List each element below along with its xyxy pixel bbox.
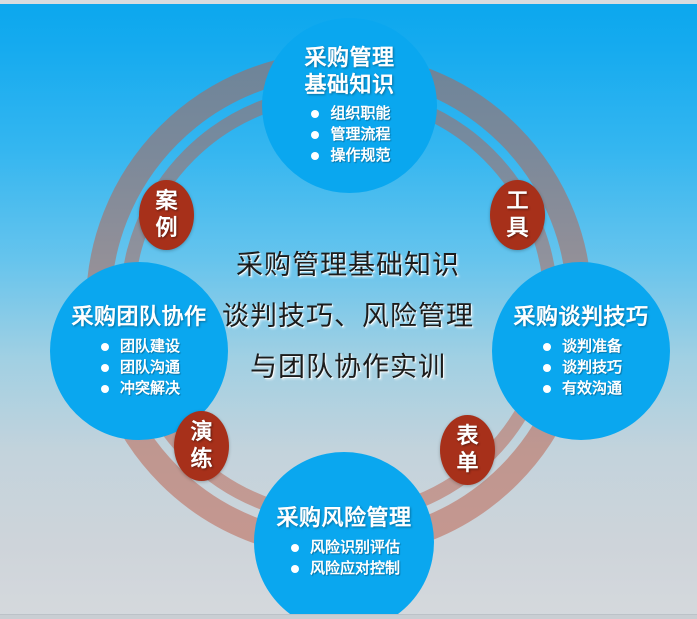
bottom-edge-strip — [0, 614, 697, 619]
list-item: 操作规范 — [308, 145, 390, 166]
list-item: 团队建设 — [98, 336, 180, 357]
list-item: 冲突解决 — [98, 378, 180, 399]
bubble-top-list: 组织职能 管理流程 操作规范 — [308, 103, 390, 166]
bubble-risk-management[interactable]: 采购风险管理 风险识别评估 风险应对控制 — [254, 452, 434, 619]
badge-tl-char-2: 例 — [155, 215, 177, 242]
top-edge-strip — [0, 0, 697, 4]
bubble-negotiation-skills[interactable]: 采购谈判技巧 谈判准备 谈判技巧 有效沟通 — [492, 262, 670, 440]
badge-tools[interactable]: 工 具 — [490, 180, 545, 250]
bubble-left-title: 采购团队协作 — [71, 304, 206, 332]
badge-form[interactable]: 表 单 — [440, 415, 495, 485]
list-item: 谈判准备 — [540, 336, 622, 357]
list-item: 团队沟通 — [98, 357, 180, 378]
bubble-right-title: 采购谈判技巧 — [513, 304, 648, 332]
list-item: 有效沟通 — [540, 378, 622, 399]
bubble-top-title-line-1: 采购管理 — [304, 45, 394, 72]
badge-drill[interactable]: 演 练 — [174, 411, 229, 481]
badge-bl-char-2: 练 — [190, 446, 212, 473]
bubble-procurement-basics[interactable]: 采购管理 基础知识 组织职能 管理流程 操作规范 — [262, 18, 437, 193]
list-item: 组织职能 — [308, 103, 390, 124]
badge-bl-char-1: 演 — [190, 419, 212, 446]
diagram-canvas: 采购管理基础知识 谈判技巧、风险管理 与团队协作实训 采购管理 基础知识 组织职… — [0, 0, 697, 619]
list-item: 谈判技巧 — [540, 357, 622, 378]
list-item: 风险识别评估 — [288, 537, 400, 558]
list-item: 管理流程 — [308, 124, 390, 145]
bubble-bottom-list: 风险识别评估 风险应对控制 — [288, 537, 400, 579]
bubble-left-list: 团队建设 团队沟通 冲突解决 — [98, 336, 180, 399]
badge-br-char-2: 单 — [456, 450, 478, 477]
bubble-bottom-title: 采购风险管理 — [276, 505, 411, 533]
badge-case-study[interactable]: 案 例 — [139, 180, 194, 250]
badge-tr-char-2: 具 — [506, 215, 528, 242]
bubble-top-title-line-2: 基础知识 — [304, 72, 394, 99]
list-item: 风险应对控制 — [288, 558, 400, 579]
badge-tr-char-1: 工 — [506, 188, 528, 215]
bubble-top-title: 采购管理 基础知识 — [304, 45, 394, 99]
badge-tl-char-1: 案 — [155, 188, 177, 215]
badge-br-char-1: 表 — [456, 423, 478, 450]
bubble-right-list: 谈判准备 谈判技巧 有效沟通 — [540, 336, 622, 399]
